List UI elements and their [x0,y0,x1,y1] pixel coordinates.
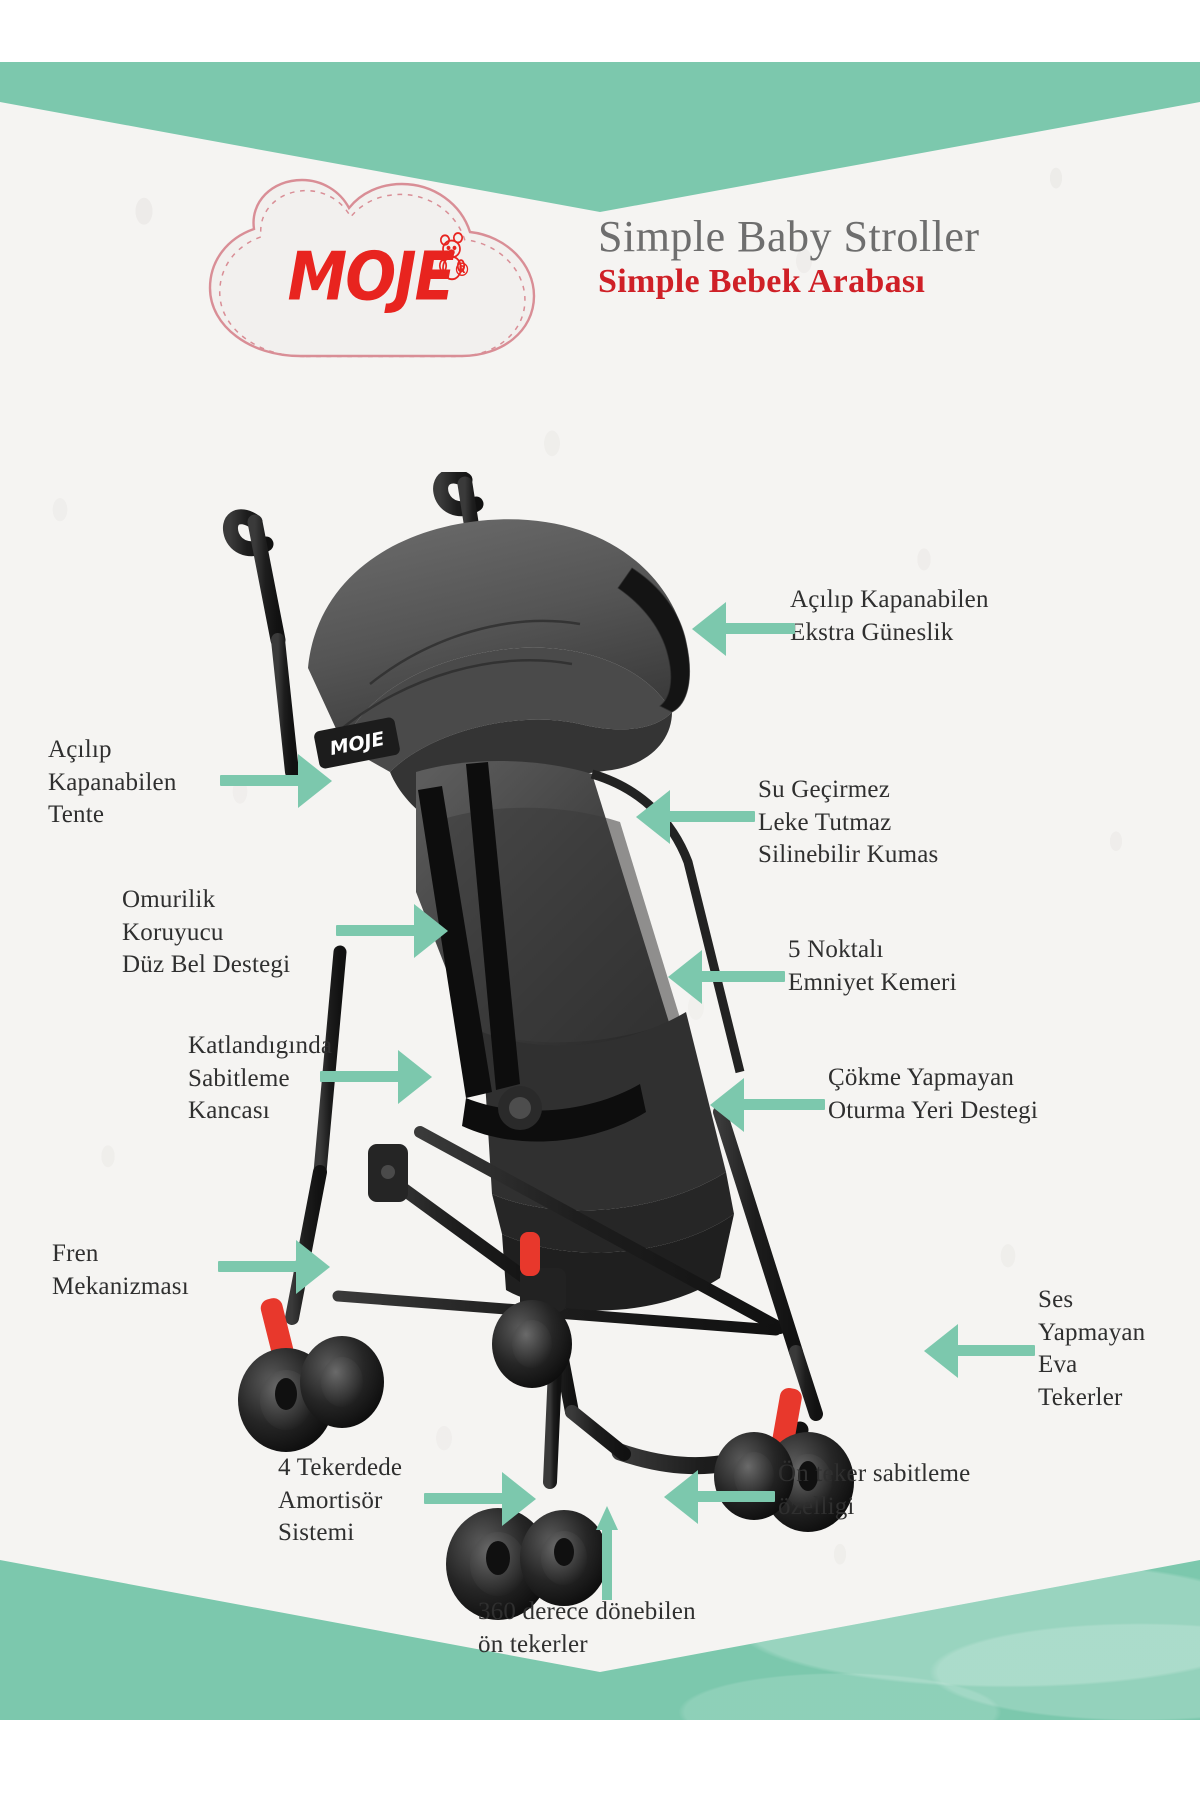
annotation-five-point-harness-label: 5 Noktalı Emniyet Kemeri [788,934,957,999]
arrow-suspension [424,1472,538,1526]
annotation-swivel-front-wheels-label: 360 derece dönebilen ön tekerler [478,1596,696,1661]
logo-moje-text: MOJE® [287,238,468,316]
annotation-extra-sunshade-label: Açılıp Kapanabilen Ekstra Güneslik [790,584,989,649]
arrow-front-wheel-lock [664,1470,776,1524]
annotation-eva-wheels: Ses Yapmayan Eva Tekerler [1038,1284,1145,1414]
wheel-rear-left [238,1336,384,1452]
logo-wordmark: MOJE® [188,174,568,364]
annotation-seat-support-label: Çökme Yapmayan Oturma Yeri Destegi [828,1062,1038,1127]
logo-cloud-badge: MOJE® [188,174,568,364]
page-title-tr: Simple Bebek Arabası [598,260,980,304]
annotation-extra-sunshade: Açılıp Kapanabilen Ekstra Güneslik [790,584,989,649]
arrow-folding-hook [320,1050,434,1104]
annotation-five-point-harness: 5 Noktalı Emniyet Kemeri [788,934,957,999]
content-panel: MOJE® [0,62,1200,1720]
title-block: Simple Baby Stroller Simple Bebek Arabas… [598,214,980,304]
arrow-waterproof-fabric [636,790,756,844]
annotation-waterproof-fabric: Su Geçirmez Leke Tutmaz Silinebilir Kuma… [758,774,938,872]
wheel-mid [492,1300,572,1388]
annotation-suspension-label: 4 Tekerdede Amortisör Sistemi [278,1452,402,1550]
arrow-seat-support [710,1078,826,1132]
infographic-page: MOJE® [0,0,1200,1800]
page-title-en: Simple Baby Stroller [598,214,980,260]
arrow-brake-mechanism [218,1240,332,1294]
arrow-eva-wheels [924,1324,1036,1378]
annotation-front-wheel-lock: Ön teker sabitleme özelligi [778,1458,970,1523]
annotation-spine-support: Omurilik Koruyucu Düz Bel Destegi [122,884,290,982]
teddy-bear-icon [437,231,471,283]
annotation-spine-support-label: Omurilik Koruyucu Düz Bel Destegi [122,884,290,982]
annotation-swivel-front-wheels: 360 derece dönebilen ön tekerler [478,1596,696,1661]
annotation-front-wheel-lock-label: Ön teker sabitleme özelligi [778,1458,970,1523]
annotation-canopy: Açılıp Kapanabilen Tente [48,734,177,832]
arrow-extra-sunshade [692,602,796,656]
annotation-folding-hook-label: Katlandıgında Sabitleme Kancası [188,1030,332,1128]
logo-moje-label: MOJE [287,238,453,316]
annotation-eva-wheels-label: Ses Yapmayan Eva Tekerler [1038,1284,1145,1414]
annotation-brake-mechanism-label: Fren Mekanizması [52,1238,189,1303]
annotation-seat-support: Çökme Yapmayan Oturma Yeri Destegi [828,1062,1038,1127]
arrow-spine-support [336,904,450,958]
arrow-five-point-harness [668,950,786,1004]
annotation-suspension: 4 Tekerdede Amortisör Sistemi [278,1452,402,1550]
annotation-brake-mechanism: Fren Mekanizması [52,1238,189,1303]
annotation-canopy-label: Açılıp Kapanabilen Tente [48,734,177,832]
arrow-canopy [220,754,334,808]
arrow-swivel-front-wheels [596,1506,620,1600]
annotation-folding-hook: Katlandıgında Sabitleme Kancası [188,1030,332,1128]
header: MOJE® [0,162,1200,382]
annotation-waterproof-fabric-label: Su Geçirmez Leke Tutmaz Silinebilir Kuma… [758,774,938,872]
